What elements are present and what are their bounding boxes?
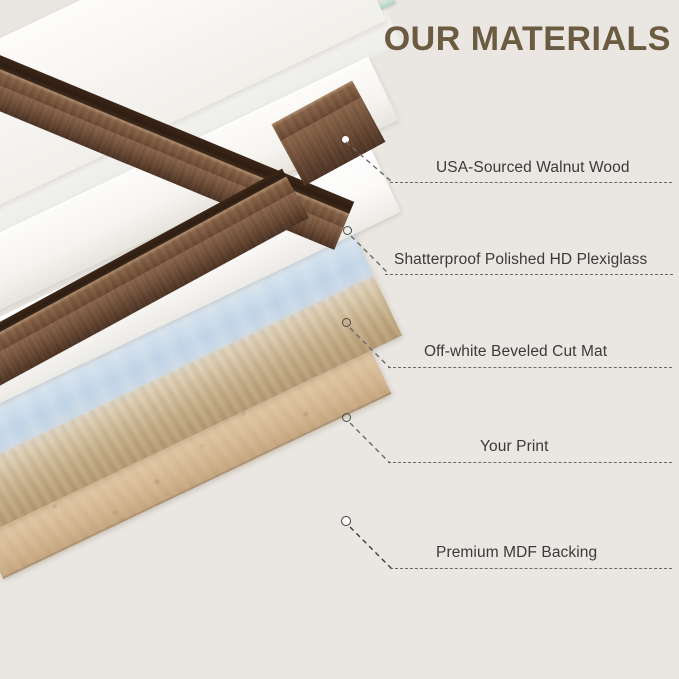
dash-rule-cut-mat: [388, 367, 672, 368]
leader-line-your-print: [348, 421, 400, 467]
callout-label-mdf-backing: Premium MDF Backing: [436, 544, 597, 562]
page-title: OUR MATERIALS: [384, 20, 671, 59]
callout-label-your-print: Your Print: [480, 438, 549, 456]
leader-line-plexiglass: [349, 234, 397, 278]
callout-label-cut-mat: Off-white Beveled Cut Mat: [424, 343, 607, 361]
callout-label-walnut-wood: USA-Sourced Walnut Wood: [436, 159, 630, 177]
leader-line-walnut-wood: [344, 140, 404, 186]
walnut-frame: [0, 0, 430, 380]
dash-rule-your-print: [388, 462, 672, 463]
dash-rule-walnut-wood: [390, 182, 672, 183]
leader-line-mdf-backing: [348, 525, 402, 573]
infographic-canvas: OUR MATERIALS USA-Sourced Walnut Wood Sh…: [0, 0, 679, 679]
dash-rule-mdf-backing: [390, 568, 672, 569]
callout-label-plexiglass: Shatterproof Polished HD Plexiglass: [394, 251, 647, 269]
dash-rule-plexiglass: [385, 274, 673, 275]
leader-line-cut-mat: [348, 326, 400, 372]
